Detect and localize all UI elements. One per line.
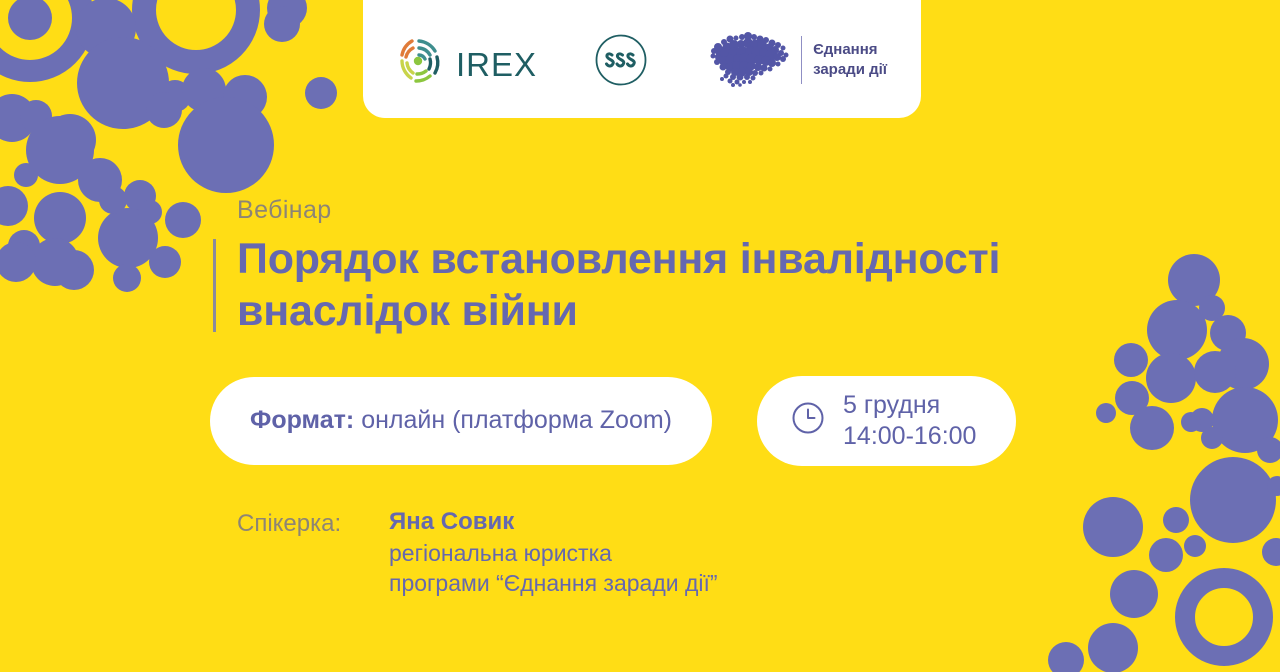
title-block: Порядок встановлення інвалідності внаслі… <box>213 233 1113 338</box>
logo-divider <box>801 36 802 84</box>
format-pill: Формат: онлайн (платформа Zoom) <box>210 377 712 465</box>
event-type-label: Вебінар <box>237 196 1113 225</box>
webinar-banner: IREX Єднання заради дії <box>0 0 1280 672</box>
speaker-block: Спікерка: Яна Совик регіональна юристка … <box>237 508 1113 599</box>
speaker-role: регіональна юристка програми “Єднання за… <box>389 538 718 599</box>
sss-logo <box>594 33 648 92</box>
format-value: онлайн (платформа Zoom) <box>361 406 672 435</box>
ednannia-logo: Єднання заради дії <box>704 27 887 92</box>
info-pill-row: Формат: онлайн (платформа Zoom) 5 грудня… <box>210 376 1113 466</box>
clock-icon <box>791 401 825 440</box>
date-time-pill: 5 грудня 14:00-16:00 <box>757 376 1016 466</box>
format-label: Формат: <box>250 406 354 435</box>
speaker-name: Яна Совик <box>389 508 718 536</box>
partner-logo-bar: IREX Єднання заради дії <box>363 0 921 118</box>
main-content: Вебінар Порядок встановлення інвалідност… <box>213 196 1113 599</box>
page-title: Порядок встановлення інвалідності внаслі… <box>237 233 1113 338</box>
irex-wordmark: IREX <box>456 48 537 81</box>
irex-logo: IREX <box>397 37 537 92</box>
ukraine-map-dots-icon <box>704 27 790 92</box>
speaker-label: Спікерка: <box>237 508 389 599</box>
irex-arcs-icon <box>397 37 447 92</box>
date-time-text: 5 грудня 14:00-16:00 <box>843 390 976 451</box>
ednannia-label: Єднання заради дії <box>813 40 887 79</box>
sss-circle-icon <box>594 33 648 92</box>
speaker-details: Яна Совик регіональна юристка програми “… <box>389 508 718 599</box>
title-accent-rule <box>213 239 216 332</box>
